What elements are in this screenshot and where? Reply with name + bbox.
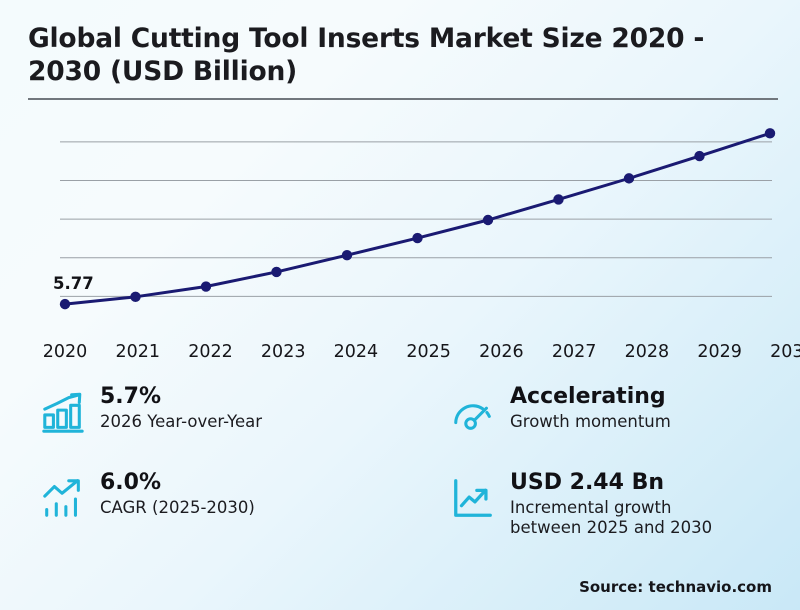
bar-chart-growth-icon xyxy=(40,390,86,436)
chart-data-point xyxy=(130,292,140,302)
stat-yoy-value: 5.7% xyxy=(100,384,262,410)
infographic-root: Global Cutting Tool Inserts Market Size … xyxy=(0,0,800,610)
stat-cagr-caption: CAGR (2025-2030) xyxy=(100,498,255,518)
chart-data-point xyxy=(201,281,211,291)
data-point-label-2020: 5.77 xyxy=(53,274,94,293)
x-axis-tick-2024: 2024 xyxy=(320,342,393,368)
chart-data-point xyxy=(271,267,281,277)
x-axis-tick-2029: 2029 xyxy=(683,342,756,368)
bar-chart-trend-icon xyxy=(40,476,86,522)
stat-momentum-caption: Growth momentum xyxy=(510,412,671,432)
title-block: Global Cutting Tool Inserts Market Size … xyxy=(28,22,768,89)
x-axis-labels: 2020202120222023202420252026202720282029… xyxy=(0,342,800,368)
x-axis-tick-2020: 2020 xyxy=(29,342,102,368)
chart-data-point xyxy=(412,233,422,243)
chart-data-point xyxy=(60,299,70,309)
chart-data-point xyxy=(553,194,563,204)
stat-momentum-value: Accelerating xyxy=(510,384,671,410)
stat-momentum-text: Accelerating Growth momentum xyxy=(510,384,671,432)
stat-yoy: 5.7% 2026 Year-over-Year xyxy=(40,384,450,470)
x-axis-tick-2028: 2028 xyxy=(611,342,684,368)
stat-momentum: Accelerating Growth momentum xyxy=(450,384,770,470)
stat-cagr-text: 6.0% CAGR (2025-2030) xyxy=(100,470,255,518)
x-axis-tick-2026: 2026 xyxy=(465,342,538,368)
chart-data-point xyxy=(342,250,352,260)
chart-data-point xyxy=(624,173,634,183)
x-axis-tick-2027: 2027 xyxy=(538,342,611,368)
line-chart-arrow-icon xyxy=(450,476,496,522)
x-axis-tick-2023: 2023 xyxy=(247,342,320,368)
line-chart: 5.77 xyxy=(0,108,800,340)
stat-yoy-text: 5.7% 2026 Year-over-Year xyxy=(100,384,262,432)
chart-data-point xyxy=(765,128,775,138)
gauge-icon xyxy=(450,390,496,436)
x-axis-tick-2025: 2025 xyxy=(392,342,465,368)
stats-grid: 5.7% 2026 Year-over-Year Accelerating Gr… xyxy=(40,384,770,539)
stat-incremental-caption: Incremental growth between 2025 and 2030 xyxy=(510,498,712,539)
page-title: Global Cutting Tool Inserts Market Size … xyxy=(28,22,768,89)
stat-yoy-caption: 2026 Year-over-Year xyxy=(100,412,262,432)
stat-incremental-value: USD 2.44 Bn xyxy=(510,470,712,496)
chart-data-point xyxy=(483,215,493,225)
source-label: Source: technavio.com xyxy=(579,578,772,596)
stat-cagr: 6.0% CAGR (2025-2030) xyxy=(40,470,450,539)
chart-canvas xyxy=(0,108,800,340)
stat-incremental-text: USD 2.44 Bn Incremental growth between 2… xyxy=(510,470,712,539)
title-divider xyxy=(28,98,778,100)
stat-cagr-value: 6.0% xyxy=(100,470,255,496)
x-axis-tick-2022: 2022 xyxy=(174,342,247,368)
x-axis-tick-2030: 2030 xyxy=(756,342,800,368)
stat-incremental: USD 2.44 Bn Incremental growth between 2… xyxy=(450,470,770,539)
x-axis-tick-2021: 2021 xyxy=(101,342,174,368)
chart-gridlines xyxy=(60,142,772,296)
chart-data-point xyxy=(694,151,704,161)
